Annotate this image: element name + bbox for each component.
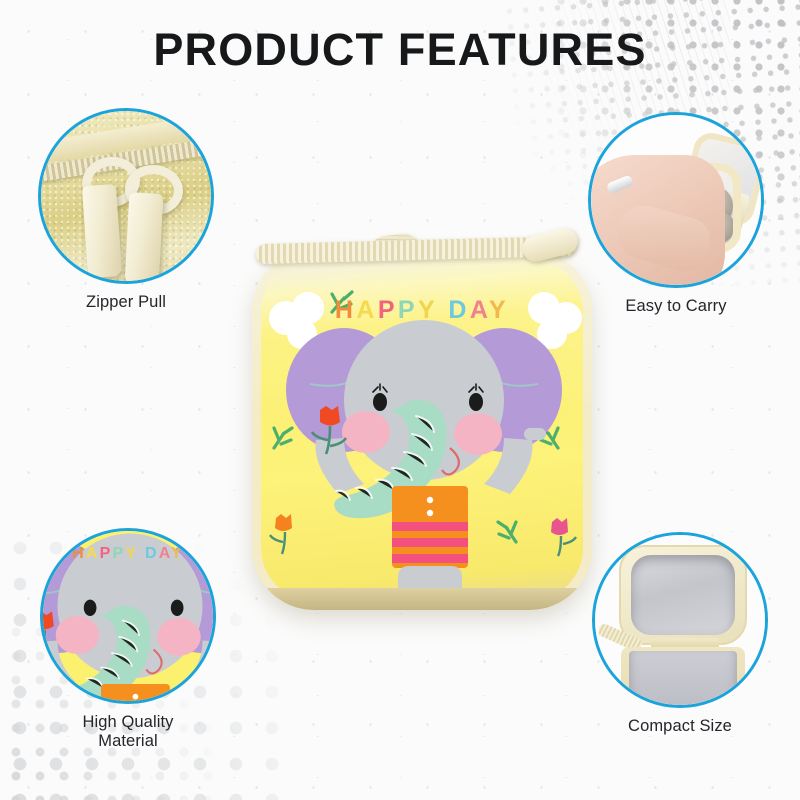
page-title: PRODUCT FEATURES bbox=[0, 24, 800, 76]
leaf-sprig-bottom-right bbox=[498, 522, 516, 542]
main-product-image: HAPPY DAY bbox=[232, 228, 592, 618]
feature-easy-to-carry[interactable]: Easy to Carry bbox=[588, 112, 764, 316]
eye-right bbox=[469, 393, 483, 411]
case-top-interior bbox=[631, 555, 735, 635]
happy-day-letter: A bbox=[159, 545, 171, 562]
feature-caption-easy-to-carry: Easy to Carry bbox=[588, 297, 764, 316]
happy-day-letter: P bbox=[398, 296, 418, 324]
cheek-right bbox=[454, 413, 502, 455]
happy-day-letter: H bbox=[335, 296, 356, 324]
flower-pink-bottom-right bbox=[551, 518, 576, 556]
feature-caption-high-quality-material: High Quality Material bbox=[40, 713, 216, 751]
feature-image-easy-to-carry bbox=[588, 112, 764, 288]
product-features-infographic: PRODUCT FEATURES bbox=[0, 0, 800, 800]
happy-day-letter: A bbox=[356, 296, 377, 324]
feature-high-quality-material[interactable]: HAPPY DAY High Quality Material bbox=[40, 528, 216, 751]
feature-image-high-quality-material: HAPPY DAY bbox=[40, 528, 216, 704]
happy-day-letter bbox=[138, 545, 145, 562]
case-bottom-rim bbox=[258, 588, 586, 610]
flower-orange-bottom-left bbox=[270, 514, 292, 554]
zipper-pull-tab-left bbox=[82, 184, 122, 278]
happy-day-letter: H bbox=[72, 545, 86, 562]
happy-day-letter: Y bbox=[489, 296, 509, 324]
shirt-button-bottom bbox=[427, 510, 433, 516]
happy-day-letter: A bbox=[86, 545, 100, 562]
happy-day-letter: D bbox=[145, 545, 159, 562]
case-shell: HAPPY DAY bbox=[252, 250, 592, 610]
happy-day-letter: P bbox=[113, 545, 126, 562]
shirt-stripes bbox=[392, 522, 468, 563]
happy-day-letter: P bbox=[100, 545, 113, 562]
zipper-pull-tab-right bbox=[125, 192, 164, 284]
happy-day-letter: P bbox=[378, 296, 398, 324]
happy-day-letter: Y bbox=[171, 545, 184, 562]
feature-compact-size[interactable]: Compact Size bbox=[592, 532, 768, 736]
leaf-sprig-left bbox=[274, 428, 292, 448]
happy-day-letter: Y bbox=[418, 296, 438, 324]
happy-day-letter: A bbox=[470, 296, 489, 324]
feature-caption-compact-size: Compact Size bbox=[592, 717, 768, 736]
happy-day-print: HAPPY DAY bbox=[252, 296, 592, 325]
feature-image-zipper-pull bbox=[38, 108, 214, 284]
caption-line-2: Material bbox=[40, 732, 216, 751]
caption-line-1: High Quality bbox=[40, 713, 216, 732]
happy-day-letter bbox=[438, 296, 448, 324]
cheek-left bbox=[342, 411, 390, 453]
feature-zipper-pull[interactable]: Zipper Pull bbox=[38, 108, 214, 312]
shirt-button-top bbox=[427, 497, 433, 503]
happy-day-letter: D bbox=[448, 296, 469, 324]
case-bottom-interior bbox=[629, 651, 737, 708]
feature-caption-zipper-pull: Zipper Pull bbox=[38, 293, 214, 312]
feature-image-compact-size bbox=[592, 532, 768, 708]
happy-day-letter: Y bbox=[125, 545, 138, 562]
eye-left bbox=[373, 393, 387, 411]
